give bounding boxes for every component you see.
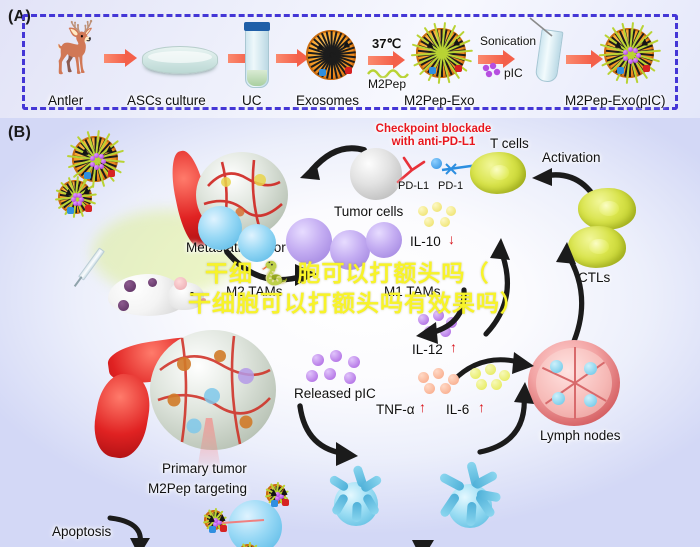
il10-dot-1 (418, 206, 428, 216)
tnf-up-arrow: ↑ (419, 399, 426, 415)
panel-a: (A) 🦌 Antler ASCs culture UC Exosomes 37… (0, 0, 700, 118)
il6-dot-2 (485, 364, 496, 375)
arrow-pic-to-immaturedc (296, 404, 366, 468)
sonicator-probe-icon (528, 16, 568, 38)
lymph-lymphocyte-3 (552, 392, 565, 405)
tube-cap (244, 22, 270, 31)
arrow-apoptosis (108, 514, 164, 547)
label-primary-tumor: Primary tumor (162, 461, 247, 476)
exosome-pic-cargo (633, 48, 638, 53)
m1-tam-cell-2 (238, 224, 276, 262)
m2pep-exosome-icon (416, 28, 466, 78)
arrow-exosomes-to-m2pepexo (368, 56, 394, 65)
label-released-pic: Released pIC (294, 386, 376, 401)
label-pd1: PD-1 (438, 180, 463, 192)
il6-dot-5 (491, 379, 502, 390)
deer-icon: 🦌 (42, 22, 104, 72)
exosome-pic-cargo (628, 47, 633, 52)
mature-dc-icon (430, 466, 508, 544)
petri-dish-icon (142, 46, 218, 74)
exosome-surface-protein (271, 500, 278, 507)
exosome-surface-protein (319, 69, 326, 76)
m2-tam-cell-3 (366, 222, 402, 258)
exosome-surface-protein (617, 67, 624, 74)
released-pic-dot-1 (312, 354, 324, 366)
mouse-tumor-node-3 (148, 278, 157, 287)
tnf-dot-4 (424, 383, 435, 394)
panel-b-letter: (B) (8, 124, 31, 142)
mouse-ear (174, 277, 187, 290)
exosome-surface-protein (282, 499, 289, 506)
exosome-pic-cargo (628, 59, 633, 64)
exosome-surface-protein (429, 67, 436, 74)
pic-label: pIC (504, 66, 523, 80)
m2pep-label: M2Pep (368, 77, 406, 91)
exosome-surface-protein (643, 65, 650, 72)
released-pic-dot-4 (306, 370, 318, 382)
released-pic-dot-6 (344, 372, 356, 384)
exosome-free-large-icon (72, 136, 118, 182)
exosome-pic-cargo (94, 153, 99, 158)
label-apoptosis: Apoptosis (52, 524, 111, 539)
exosome-surface-protein (85, 205, 92, 212)
primary-vessel-left (89, 370, 155, 462)
figure-root: (A) 🦌 Antler ASCs culture UC Exosomes 37… (0, 0, 700, 547)
il10-dot-5 (440, 217, 450, 227)
tnf-dot-2 (433, 368, 444, 379)
label-il10: IL-10 (410, 234, 441, 249)
il6-dot-4 (476, 379, 487, 390)
il6-dot-1 (470, 368, 481, 379)
m1-tam-cell-1 (198, 206, 242, 250)
arrow-maturedc-to-lymph (472, 380, 538, 458)
label-lymph-nodes: Lymph nodes (540, 428, 621, 443)
tnf-dot-1 (418, 372, 429, 383)
label-tnf-alpha: TNF-α (376, 402, 415, 417)
mouse-tumor-node-2 (118, 300, 129, 311)
pic-molecule-icon (481, 62, 503, 78)
watermark-line-2: 干细胞可以打额头吗有效果吗） (188, 288, 524, 318)
m2pep-exo-pic-icon (604, 28, 654, 78)
step-label-ascs: ASCs culture (127, 93, 206, 108)
centrifuge-tube-icon (245, 28, 269, 88)
il10-dot-3 (446, 206, 456, 216)
exosome-surface-protein (67, 207, 74, 214)
arrow-to-final (566, 55, 592, 64)
il6-dot-3 (499, 370, 510, 381)
lymph-lymphocyte-4 (584, 394, 597, 407)
exosome-surface-protein (108, 170, 115, 177)
step-label-final: M2Pep-Exo(pIC) (565, 93, 666, 108)
watermark-line-1: 干细 🐍 胞可以打额头吗（ (205, 258, 489, 288)
exosome-free-small-icon (58, 180, 92, 214)
targeting-link-icon (220, 514, 272, 532)
mature-dc-arm-6 (466, 502, 477, 527)
lymph-septum-4 (574, 347, 576, 383)
exosome-pic-cargo (90, 162, 95, 167)
arrow-uc-to-exosomes (276, 54, 298, 63)
il6-up-arrow: ↑ (478, 399, 485, 415)
arrow-antler-to-culture (104, 54, 126, 63)
step-label-exosomes: Exosomes (296, 93, 359, 108)
label-checkpoint-line2: with anti-PD-L1 (371, 136, 496, 149)
label-t-cells: T cells (490, 136, 529, 151)
label-pdl1: PD-L1 (398, 180, 429, 192)
exosome-surface-protein (209, 526, 216, 533)
exosome-surface-protein (345, 67, 352, 74)
lymph-node-icon (528, 340, 620, 426)
targeting-exosome-1 (266, 484, 286, 504)
released-pic-dot-3 (348, 356, 360, 368)
tnf-dot-5 (440, 383, 451, 394)
label-il6: IL-6 (446, 402, 469, 417)
label-m2pep-targeting: M2Pep targeting (148, 481, 247, 496)
immature-dc-arm-6 (352, 502, 362, 522)
ctl-nucleus-1 (599, 201, 619, 215)
step-label-antler: Antler (48, 93, 83, 108)
released-pic-dot-5 (324, 368, 336, 380)
tnf-dot-3 (448, 374, 459, 385)
tube-fill (247, 70, 267, 86)
il10-dot-2 (432, 202, 442, 212)
il10-dot-4 (424, 217, 434, 227)
ctl-cell-1 (578, 188, 636, 230)
released-pic-dot-2 (330, 350, 342, 362)
step-label-uc: UC (242, 93, 262, 108)
tumor-cell-grey (350, 148, 402, 200)
step-label-m2pepexo: M2Pep-Exo (404, 93, 475, 108)
immature-dc-icon (318, 466, 392, 540)
exosome-icon (306, 30, 356, 80)
exosome-pic-cargo (99, 164, 104, 169)
panel-b: (B) Me (0, 118, 700, 547)
mouse-tumor-node-1 (124, 280, 136, 292)
lymph-lymphocyte-1 (550, 360, 563, 373)
mature-dc-arm-3 (438, 472, 465, 492)
label-checkpoint-line1: Checkpoint blockade (371, 123, 496, 136)
ctl-nucleus-2 (589, 239, 609, 253)
exosome-m2pep-strand (248, 542, 251, 547)
exosome-pic-cargo (623, 56, 628, 61)
lymph-septum-1 (574, 383, 576, 419)
temperature-label: 37℃ (372, 36, 401, 52)
lymph-lymphocyte-2 (584, 362, 597, 375)
label-tumor-cells: Tumor cells (334, 204, 403, 219)
exosome-surface-protein (455, 65, 462, 72)
